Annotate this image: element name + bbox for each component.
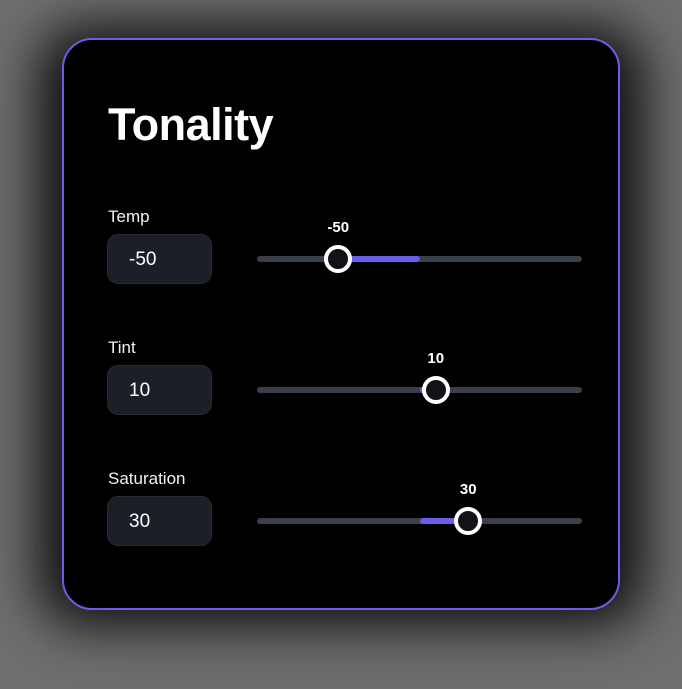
- temp-slider-track[interactable]: [257, 256, 582, 262]
- saturation-input[interactable]: 30: [107, 496, 212, 546]
- app-stage: Tonality Temp -50 -50 Tint 10 1: [0, 0, 682, 689]
- saturation-input-value: 30: [108, 512, 150, 531]
- control-label-temp: Temp: [108, 208, 150, 225]
- tint-slider[interactable]: 10: [257, 365, 582, 415]
- control-row-saturation: Saturation 30 30: [64, 470, 620, 580]
- tint-input[interactable]: 10: [107, 365, 212, 415]
- temp-input-value: -50: [108, 250, 156, 269]
- control-row-temp: Temp -50 -50: [64, 208, 620, 318]
- control-row-tint: Tint 10 10: [64, 339, 620, 449]
- saturation-slider-value-label: 30: [460, 482, 477, 497]
- temp-slider-thumb[interactable]: [324, 245, 352, 273]
- saturation-slider-thumb[interactable]: [454, 507, 482, 535]
- temp-slider-value-label: -50: [327, 220, 349, 235]
- control-label-saturation: Saturation: [108, 470, 186, 487]
- temp-slider[interactable]: -50: [257, 234, 582, 284]
- tonality-panel: Tonality Temp -50 -50 Tint 10 1: [62, 38, 620, 610]
- tint-input-value: 10: [108, 381, 150, 400]
- control-label-tint: Tint: [108, 339, 136, 356]
- temp-input[interactable]: -50: [107, 234, 212, 284]
- page-title: Tonality: [108, 102, 273, 147]
- tint-slider-value-label: 10: [427, 351, 444, 366]
- saturation-slider[interactable]: 30: [257, 496, 582, 546]
- tint-slider-thumb[interactable]: [422, 376, 450, 404]
